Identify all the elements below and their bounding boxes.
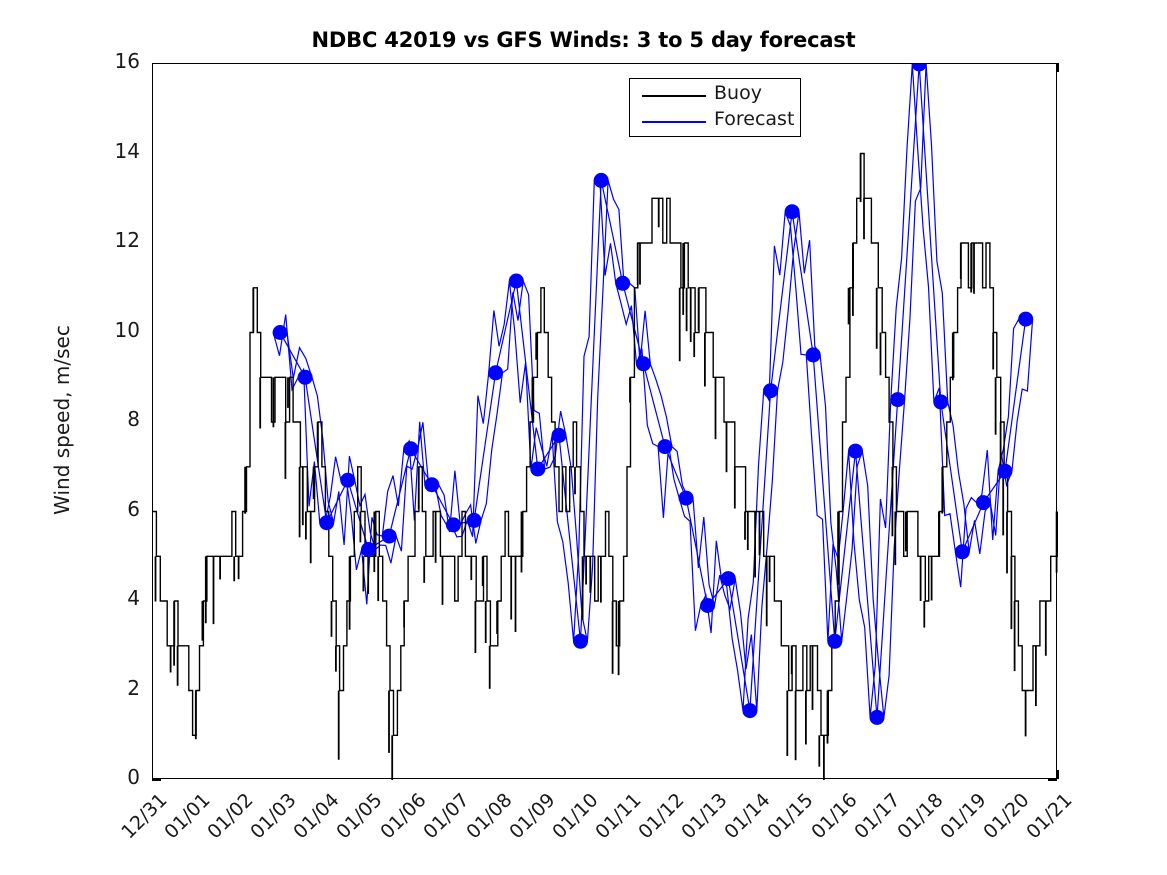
forecast-point-19: [679, 491, 694, 506]
forecast-point-11: [509, 274, 524, 289]
forecast-member-1: [280, 64, 1026, 717]
forecast-point-25: [806, 347, 821, 362]
forecast-point-13: [552, 428, 567, 443]
y-axis-tick-4: 4: [100, 586, 140, 610]
forecast-point-10: [488, 365, 503, 380]
legend-label-buoy: Buoy: [714, 82, 762, 104]
forecast-point-8: [446, 517, 461, 532]
legend-swatch-forecast: [642, 121, 706, 123]
forecast-point-29: [890, 392, 905, 407]
y-axis-tick-12: 12: [100, 228, 140, 252]
legend-label-forecast: Forecast: [714, 108, 794, 130]
y-axis-tick-8: 8: [100, 407, 140, 431]
chart-title: NDBC 42019 vs GFS Winds: 3 to 5 day fore…: [0, 28, 1167, 52]
forecast-point-31: [933, 394, 948, 409]
legend-swatch-buoy: [642, 95, 706, 97]
forecast-point-24: [785, 204, 800, 219]
forecast-point-0: [273, 325, 288, 340]
forecast-point-6: [403, 441, 418, 456]
forecast-point-30: [912, 64, 927, 72]
y-axis-label: Wind speed, m/sec: [50, 110, 74, 730]
forecast-point-26: [827, 634, 842, 649]
legend-entry-forecast: Forecast: [630, 109, 802, 135]
x-axis-tick-01-06: 01/06: [372, 789, 430, 847]
y-axis-tick-0: 0: [100, 765, 140, 789]
forecast-point-20: [700, 598, 715, 613]
legend-entry-buoy: Buoy: [630, 83, 802, 109]
forecast-point-35: [1018, 312, 1033, 327]
forecast-member-3: [273, 64, 1019, 717]
forecast-point-15: [594, 173, 609, 188]
chart-legend: Buoy Forecast: [629, 78, 801, 137]
forecast-point-3: [340, 473, 355, 488]
forecast-point-4: [361, 542, 376, 557]
forecast-point-14: [573, 634, 588, 649]
forecast-point-34: [998, 464, 1013, 479]
forecast-point-21: [721, 571, 736, 586]
forecast-point-32: [955, 544, 970, 559]
forecast-point-17: [636, 356, 651, 371]
forecast-point-9: [467, 513, 482, 528]
forecast-point-1: [298, 370, 313, 385]
y-axis-tick-2: 2: [100, 676, 140, 700]
forecast-point-28: [870, 710, 885, 725]
forecast-point-16: [615, 276, 630, 291]
forecast-point-27: [848, 444, 863, 459]
forecast-member-2: [287, 64, 1033, 717]
y-axis-tick-14: 14: [100, 139, 140, 163]
forecast-point-18: [658, 439, 673, 454]
forecast-point-33: [976, 495, 991, 510]
forecast-point-2: [319, 515, 334, 530]
y-axis-tick-10: 10: [100, 318, 140, 342]
x-axis-tick-01-05: 01/05: [329, 789, 387, 847]
forecast-point-5: [382, 529, 397, 544]
chart-figure: NDBC 42019 vs GFS Winds: 3 to 5 day fore…: [0, 0, 1167, 875]
forecast-point-12: [530, 462, 545, 477]
forecast-point-7: [424, 477, 439, 492]
forecast-point-23: [763, 383, 778, 398]
y-axis-tick-6: 6: [100, 497, 140, 521]
y-axis-tick-16: 16: [100, 49, 140, 73]
forecast-point-22: [742, 703, 757, 718]
x-axis-tick-01-15: 01/15: [760, 789, 818, 847]
plot-area: [152, 63, 1057, 779]
plot-canvas: [153, 64, 1058, 780]
x-axis-tick-01-16: 01/16: [803, 789, 861, 847]
